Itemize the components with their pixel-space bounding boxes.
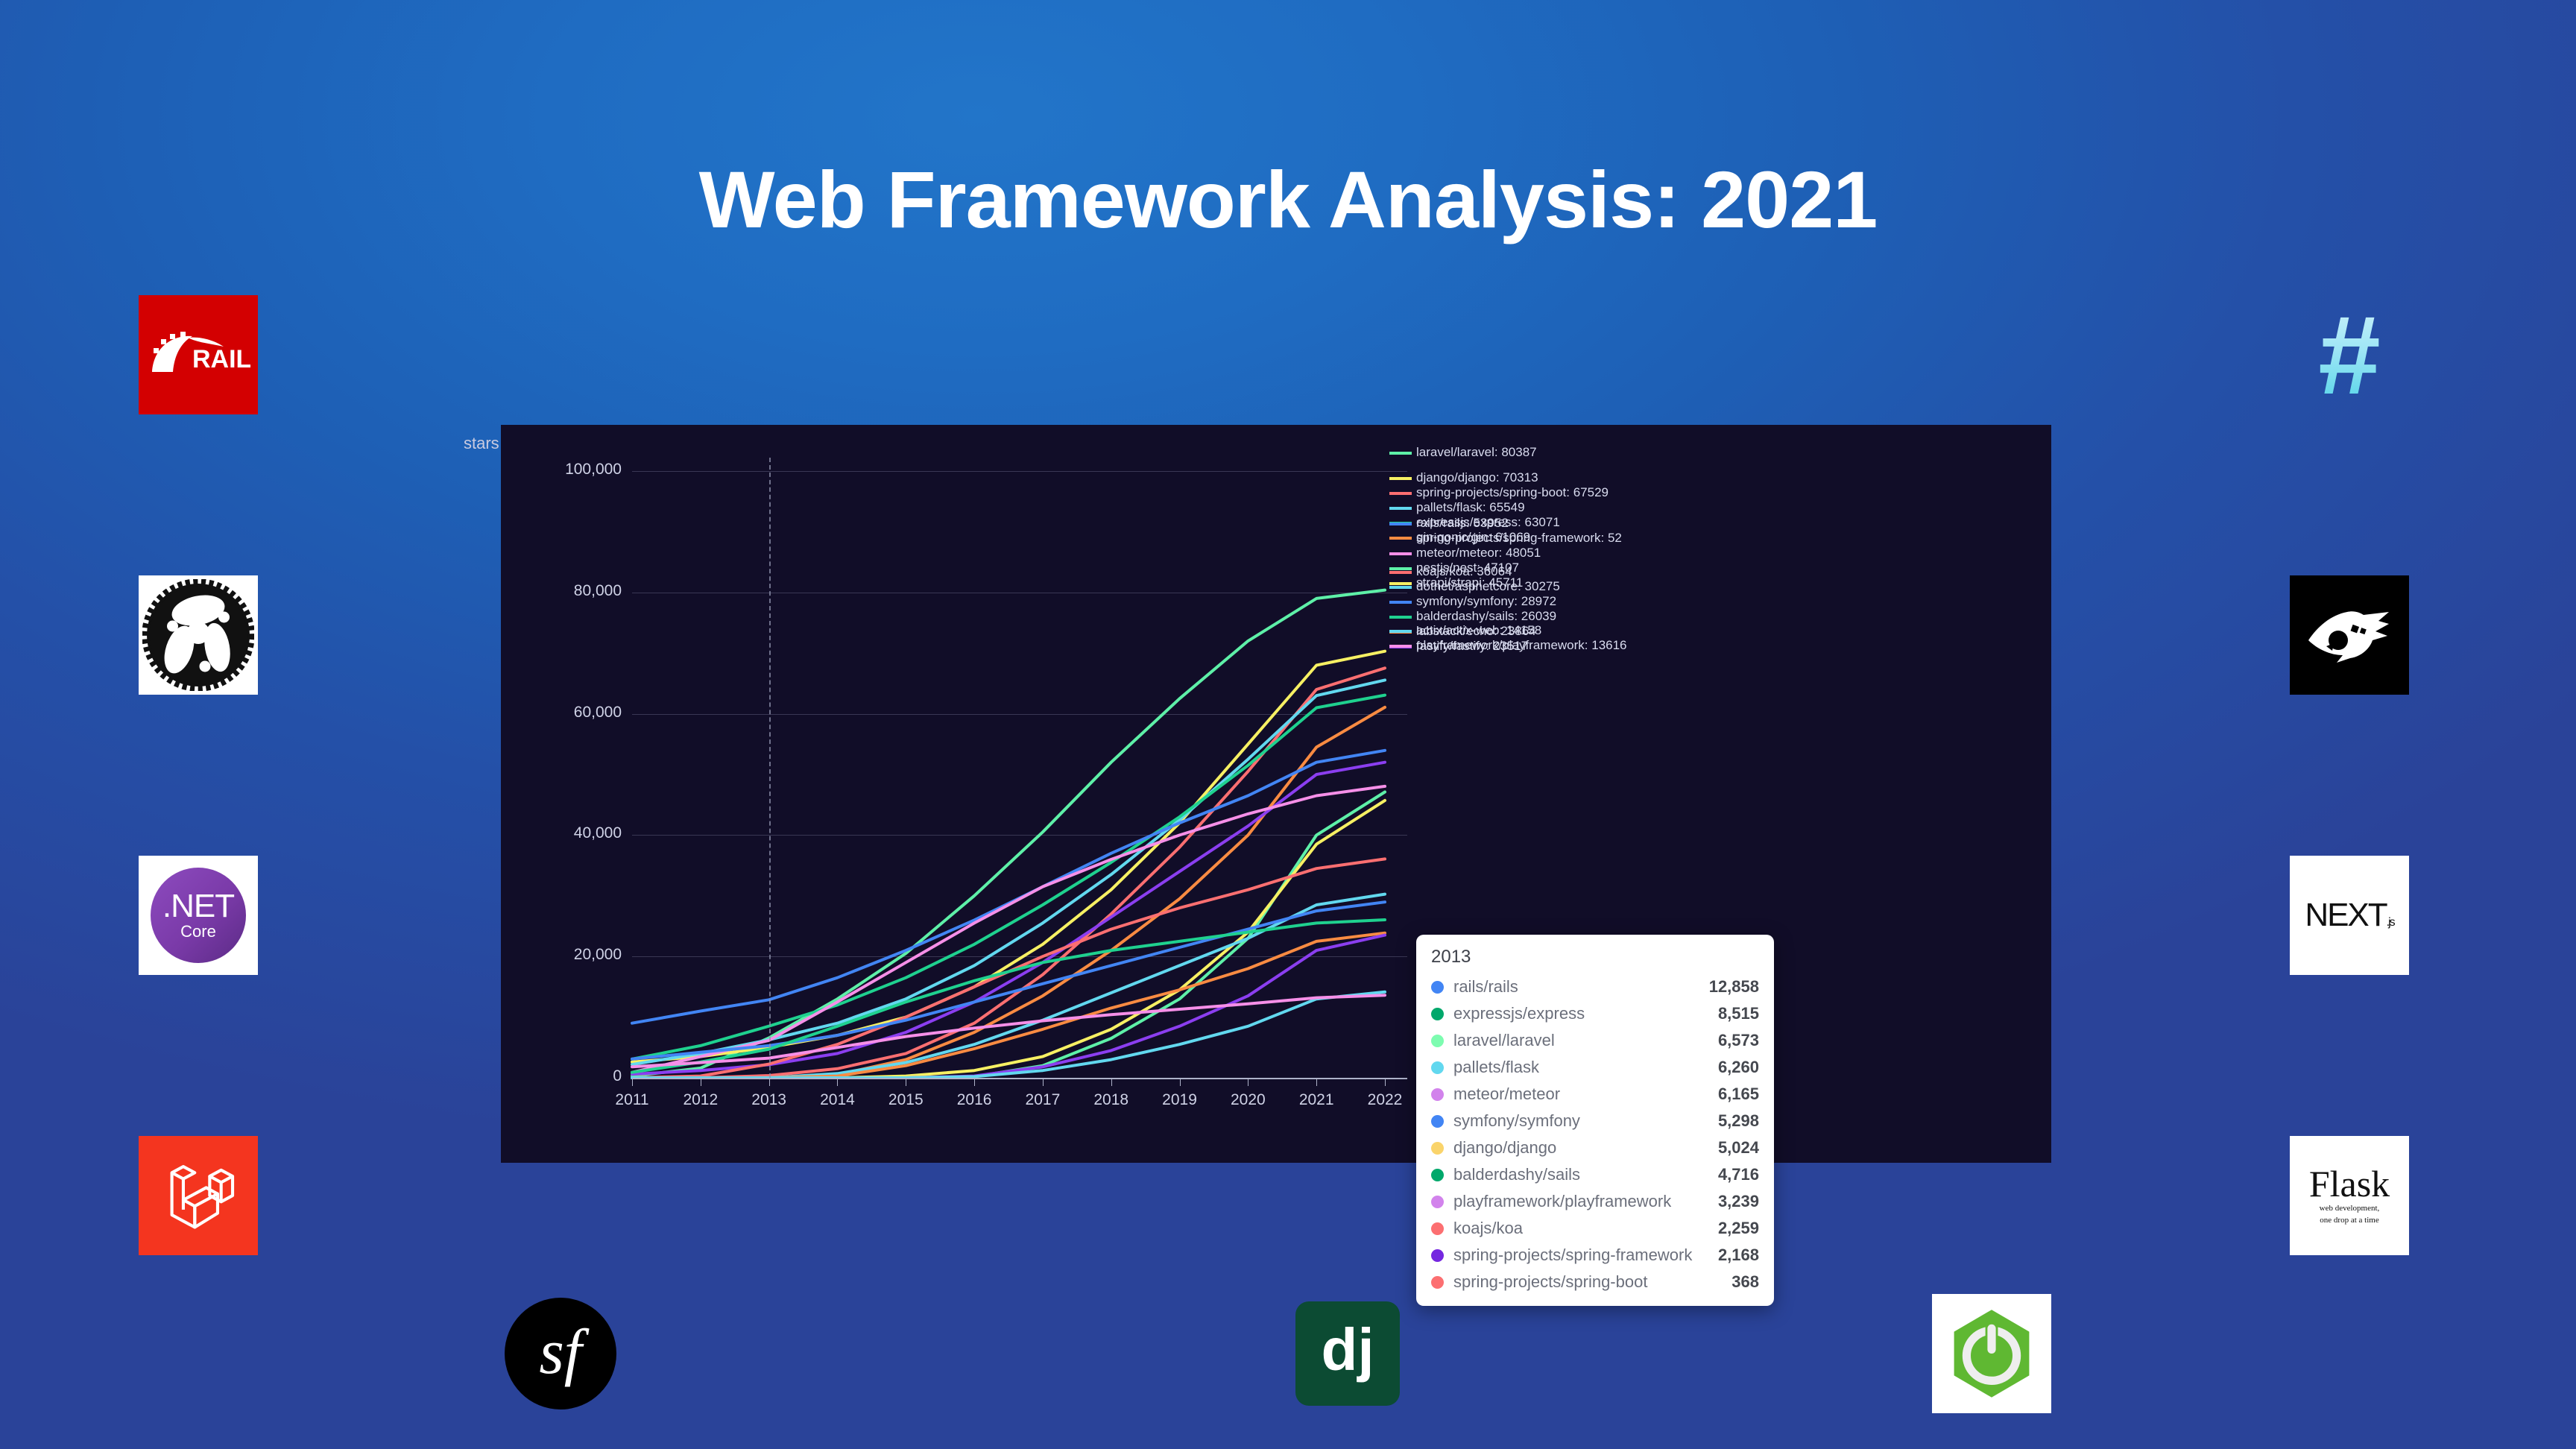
tooltip-series-name: balderdashy/sails (1453, 1165, 1708, 1184)
series-end-swatch (1389, 552, 1412, 555)
x-axis-tick-label: 2014 (804, 1091, 871, 1109)
tooltip-row: spring-projects/spring-framework2,168 (1431, 1242, 1759, 1269)
series-end-label: django/django: 70313 (1416, 470, 1538, 485)
series-end-swatch (1389, 582, 1412, 585)
tooltip-series-value: 2,168 (1718, 1246, 1759, 1265)
x-axis-tick-mark (701, 1079, 701, 1086)
series-line (632, 933, 1385, 1078)
tooltip-series-name: spring-projects/spring-boot (1453, 1272, 1721, 1292)
tooltip-row: laravel/laravel6,573 (1431, 1027, 1759, 1054)
gin-gonic-logo (2290, 575, 2409, 695)
series-end-swatch (1389, 523, 1412, 525)
tooltip-row: balderdashy/sails4,716 (1431, 1161, 1759, 1188)
x-axis-tick-label: 2018 (1078, 1091, 1145, 1109)
series-end-label: symfony/symfony: 28972 (1416, 594, 1556, 609)
symfony-circle: sf (505, 1298, 616, 1409)
x-axis-line (632, 1078, 1407, 1079)
tooltip-row: playframework/playframework3,239 (1431, 1188, 1759, 1215)
symfony-label: sf (539, 1319, 581, 1383)
x-axis-tick-label: 2015 (872, 1091, 939, 1109)
tooltip-series-name: pallets/flask (1453, 1058, 1708, 1077)
tooltip-color-dot (1431, 1061, 1444, 1074)
tooltip-series-value: 12,858 (1709, 977, 1759, 997)
series-end-label: laravel/laravel: 80387 (1416, 445, 1537, 460)
x-axis-tick-mark (1385, 1079, 1386, 1086)
tooltip-series-value: 2,259 (1718, 1219, 1759, 1238)
x-axis-tick-mark (1111, 1079, 1112, 1086)
tooltip-rows: rails/rails12,858expressjs/express8,515l… (1431, 973, 1759, 1295)
tooltip-row: django/django5,024 (1431, 1134, 1759, 1161)
series-end-swatch (1389, 452, 1412, 455)
series-end-swatch (1389, 537, 1412, 540)
tooltip-row: rails/rails12,858 (1431, 973, 1759, 1000)
tooltip-color-dot (1431, 1249, 1444, 1262)
tooltip-series-value: 6,260 (1718, 1058, 1759, 1077)
x-axis-tick-label: 2021 (1283, 1091, 1350, 1109)
dotnet-core-sublabel: Core (180, 924, 216, 940)
django-logo: dj (1288, 1294, 1407, 1413)
tooltip-color-dot (1431, 1115, 1444, 1128)
series-end-label: balderdashy/sails: 26039 (1416, 609, 1556, 624)
tooltip-series-name: django/django (1453, 1138, 1708, 1158)
tooltip-series-value: 5,298 (1718, 1111, 1759, 1131)
tooltip-series-name: koajs/koa (1453, 1219, 1708, 1238)
nextjs-logo: NEXT.js (2290, 856, 2409, 975)
csharp-sharp-logo: # (2290, 295, 2409, 414)
tooltip-color-dot (1431, 1276, 1444, 1289)
x-axis-tick-label: 2020 (1214, 1091, 1281, 1109)
next-js-suffix: .js (2387, 916, 2394, 929)
hover-tooltip: 2013 rails/rails12,858expressjs/express8… (1416, 935, 1774, 1306)
tooltip-series-name: expressjs/express (1453, 1004, 1708, 1023)
tooltip-color-dot (1431, 981, 1444, 994)
tooltip-series-value: 6,573 (1718, 1031, 1759, 1050)
tooltip-color-dot (1431, 1142, 1444, 1155)
tooltip-color-dot (1431, 1196, 1444, 1208)
tooltip-color-dot (1431, 1169, 1444, 1181)
series-end-label: rails/rails: 53952 (1416, 516, 1509, 531)
series-end-swatch (1389, 492, 1412, 495)
tooltip-series-value: 4,716 (1718, 1165, 1759, 1184)
series-end-swatch (1389, 586, 1412, 589)
dotnet-core-label: .NET (162, 891, 234, 922)
series-line (632, 801, 1385, 1078)
flask-logo: Flask web development, one drop at a tim… (2290, 1136, 2409, 1255)
series-end-swatch (1389, 571, 1412, 574)
tooltip-series-name: spring-projects/spring-framework (1453, 1246, 1708, 1265)
series-end-label: playframework/playframework: 13616 (1416, 638, 1627, 653)
x-axis-tick-mark (1043, 1079, 1044, 1086)
x-axis-tick-label: 2022 (1351, 1091, 1418, 1109)
x-axis-tick-label: 2012 (667, 1091, 734, 1109)
series-end-label: pallets/flask: 65549 (1416, 500, 1525, 515)
series-line (632, 935, 1385, 1078)
tooltip-series-value: 3,239 (1718, 1192, 1759, 1211)
tooltip-series-value: 5,024 (1718, 1138, 1759, 1158)
django-box: dj (1295, 1301, 1400, 1406)
x-axis-tick-label: 2019 (1146, 1091, 1213, 1109)
tooltip-color-dot (1431, 1035, 1444, 1047)
x-axis-tick-label: 2017 (1009, 1091, 1076, 1109)
tooltip-color-dot (1431, 1088, 1444, 1101)
tooltip-row: expressjs/express8,515 (1431, 1000, 1759, 1027)
flask-label: Flask (2309, 1165, 2390, 1202)
x-axis-tick-mark (837, 1079, 838, 1086)
symfony-logo: sf (501, 1294, 620, 1413)
tooltip-color-dot (1431, 1222, 1444, 1235)
x-axis-tick-mark (632, 1079, 633, 1086)
x-axis-tick-label: 2013 (736, 1091, 803, 1109)
tooltip-row: pallets/flask6,260 (1431, 1054, 1759, 1081)
series-end-label: dotnet/aspnetcore: 30275 (1416, 579, 1560, 594)
series-end-label: koajs/koa: 36064 (1416, 564, 1512, 579)
series-end-swatch (1389, 601, 1412, 604)
x-axis-tick-mark (769, 1079, 770, 1086)
x-axis-tick-mark (1180, 1079, 1181, 1086)
flask-wordmark: Flask web development, one drop at a tim… (2309, 1165, 2390, 1226)
tooltip-series-value: 6,165 (1718, 1085, 1759, 1104)
x-axis-tick-mark (906, 1079, 906, 1086)
tooltip-color-dot (1431, 1008, 1444, 1020)
series-end-label: meteor/meteor: 48051 (1416, 546, 1541, 561)
django-label: dj (1321, 1320, 1374, 1380)
x-axis-tick-label: 2011 (599, 1091, 666, 1109)
tooltip-series-name: laravel/laravel (1453, 1031, 1708, 1050)
tooltip-year: 2013 (1431, 947, 1759, 967)
flask-tagline-1: web development, (2320, 1204, 2380, 1214)
tooltip-series-name: playframework/playframework (1453, 1192, 1708, 1211)
tooltip-series-value: 8,515 (1718, 1004, 1759, 1023)
chart-panel: stars 020,00040,00060,00080,000100,000 2… (501, 425, 2051, 1163)
tooltip-series-name: meteor/meteor (1453, 1085, 1708, 1104)
series-line (632, 680, 1385, 1064)
next-label: NEXT (2305, 897, 2386, 933)
rails-logo: RAILS (139, 295, 258, 414)
chart-series-lines (501, 425, 2051, 1163)
page-title: Web Framework Analysis: 2021 (0, 153, 2576, 246)
series-end-label: spring-projects/spring-boot: 67529 (1416, 485, 1609, 500)
x-axis-tick-mark (1316, 1079, 1317, 1086)
next-wordmark: NEXT.js (2305, 897, 2393, 934)
series-line (632, 763, 1385, 1074)
series-end-swatch (1389, 616, 1412, 619)
series-end-swatch (1389, 567, 1412, 570)
tooltip-row: symfony/symfony5,298 (1431, 1108, 1759, 1134)
tooltip-row: meteor/meteor6,165 (1431, 1081, 1759, 1108)
tooltip-row: koajs/koa2,259 (1431, 1215, 1759, 1242)
dotnet-core-circle: .NET Core (151, 868, 246, 963)
series-end-swatch (1389, 630, 1412, 633)
svg-text:RAILS: RAILS (192, 345, 250, 373)
x-axis-tick-label: 2016 (941, 1091, 1008, 1109)
koa-logo (139, 575, 258, 695)
series-end-swatch (1389, 645, 1412, 648)
spring-boot-logo (1932, 1294, 2051, 1413)
series-end-label: spring-projects/spring-framework: 52 (1416, 531, 1622, 546)
flask-tagline-2: one drop at a time (2320, 1216, 2378, 1226)
series-end-swatch (1389, 477, 1412, 480)
tooltip-series-name: rails/rails (1453, 977, 1699, 997)
laravel-logo (139, 1136, 258, 1255)
dotnet-core-logo: .NET Core (139, 856, 258, 975)
hash-icon: # (2318, 299, 2380, 411)
series-end-label: actix/actix-web: 14158 (1416, 623, 1541, 638)
series-end-swatch (1389, 507, 1412, 510)
x-axis-tick-mark (1248, 1079, 1248, 1086)
hover-cursor-line (769, 458, 771, 1078)
series-line (632, 792, 1385, 1079)
tooltip-row: spring-projects/spring-boot368 (1431, 1269, 1759, 1295)
series-line (632, 707, 1385, 1078)
x-axis-tick-mark (974, 1079, 975, 1086)
tooltip-series-value: 368 (1731, 1272, 1759, 1292)
tooltip-series-name: symfony/symfony (1453, 1111, 1708, 1131)
